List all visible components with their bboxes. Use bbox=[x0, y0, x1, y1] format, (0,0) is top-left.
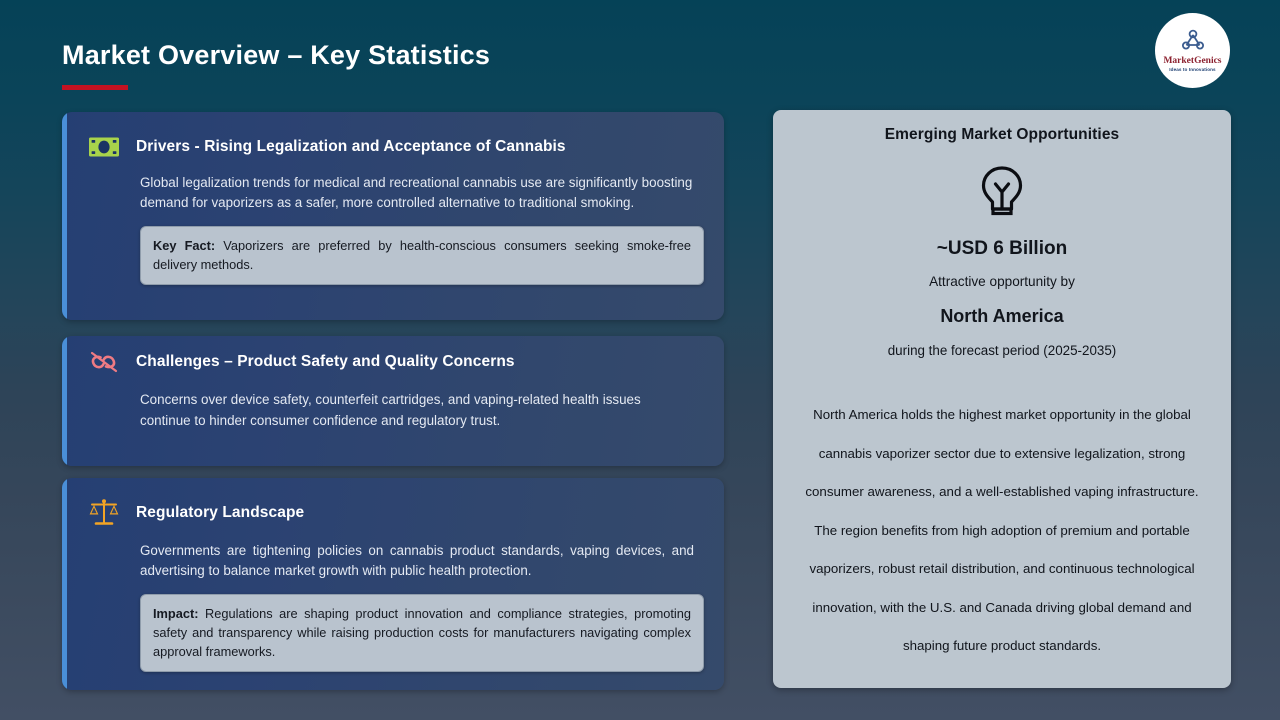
card-body-text: Global legalization trends for medical a… bbox=[62, 165, 724, 212]
panel-region: North America bbox=[789, 306, 1215, 327]
card-header: Challenges – Product Safety and Quality … bbox=[62, 336, 724, 380]
callout-label: Key Fact: bbox=[153, 238, 215, 253]
card-accent-bar bbox=[62, 112, 67, 320]
panel-subtitle: Attractive opportunity by bbox=[789, 274, 1215, 289]
impact-callout: Impact: Regulations are shaping product … bbox=[140, 594, 704, 672]
title-underline-rule bbox=[62, 85, 128, 90]
card-drivers[interactable]: Drivers - Rising Legalization and Accept… bbox=[62, 112, 724, 320]
page-title: Market Overview – Key Statistics bbox=[62, 40, 490, 71]
panel-forecast-period: during the forecast period (2025-2035) bbox=[789, 343, 1215, 358]
card-header: Drivers - Rising Legalization and Accept… bbox=[62, 112, 724, 165]
company-logo: MarketGenics Ideas to Innovations bbox=[1155, 13, 1230, 88]
panel-market-value: ~USD 6 Billion bbox=[789, 238, 1215, 260]
panel-title: Emerging Market Opportunities bbox=[789, 126, 1215, 144]
callout-text: Vaporizers are preferred by health-consc… bbox=[153, 238, 691, 272]
broken-link-icon bbox=[86, 344, 122, 380]
card-title: Regulatory Landscape bbox=[136, 504, 304, 522]
card-header: Regulatory Landscape bbox=[62, 478, 724, 531]
card-body-text: Governments are tightening policies on c… bbox=[62, 531, 724, 580]
money-banknote-icon bbox=[86, 129, 122, 165]
logo-company-name: MarketGenics bbox=[1163, 57, 1221, 67]
callout-label: Impact: bbox=[153, 606, 199, 621]
card-accent-bar bbox=[62, 336, 67, 466]
scales-of-justice-icon bbox=[86, 495, 122, 531]
card-title: Drivers - Rising Legalization and Accept… bbox=[136, 138, 566, 156]
card-body-text: Concerns over device safety, counterfeit… bbox=[62, 380, 724, 431]
card-accent-bar bbox=[62, 478, 67, 690]
emerging-opportunities-panel: Emerging Market Opportunities ~USD 6 Bil… bbox=[773, 110, 1231, 688]
callout-text: Regulations are shaping product innovati… bbox=[153, 606, 691, 659]
card-regulatory[interactable]: Regulatory Landscape Governments are tig… bbox=[62, 478, 724, 690]
lightbulb-icon bbox=[789, 164, 1215, 222]
card-title: Challenges – Product Safety and Quality … bbox=[136, 353, 515, 371]
logo-network-icon bbox=[1180, 29, 1206, 56]
card-challenges[interactable]: Challenges – Product Safety and Quality … bbox=[62, 336, 724, 466]
panel-description: North America holds the highest market o… bbox=[789, 396, 1215, 666]
logo-tagline: Ideas to Innovations bbox=[1169, 67, 1215, 72]
key-fact-callout: Key Fact: Vaporizers are preferred by he… bbox=[140, 226, 704, 285]
